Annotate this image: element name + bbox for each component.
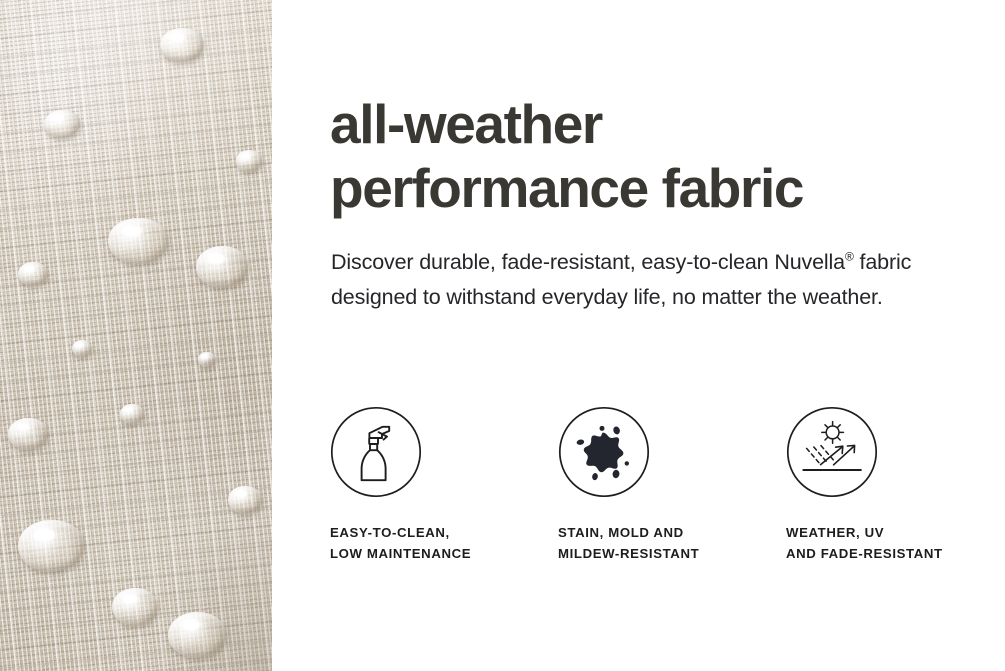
water-droplet — [196, 246, 248, 288]
sun-uv-reflect-icon — [786, 406, 878, 498]
feature-caption: EASY-TO-CLEAN, LOW MAINTENANCE — [330, 523, 558, 565]
water-droplet — [120, 404, 144, 424]
water-droplet — [160, 28, 204, 62]
content-column: all-weather performance fabric Discover … — [330, 0, 975, 671]
water-droplet — [236, 150, 262, 172]
water-droplet — [18, 520, 84, 572]
water-droplet — [108, 218, 168, 264]
subcopy-line-a: Discover durable, fade-resistant, easy-t… — [331, 250, 845, 274]
water-droplet — [168, 612, 226, 658]
spray-bottle-icon — [330, 406, 422, 498]
water-droplet — [8, 418, 48, 450]
water-droplet — [72, 340, 92, 357]
feature-item: WEATHER, UV AND FADE-RESISTANT — [786, 406, 1005, 565]
feature-list: EASY-TO-CLEAN, LOW MAINTENANCE STAIN, MO… — [330, 406, 975, 565]
feature-item: EASY-TO-CLEAN, LOW MAINTENANCE — [330, 406, 558, 565]
water-droplet — [228, 486, 262, 514]
page-headline: all-weather performance fabric — [330, 92, 803, 221]
stain-splat-icon — [558, 406, 650, 498]
registered-trademark-symbol: ® — [845, 249, 854, 263]
feature-caption: WEATHER, UV AND FADE-RESISTANT — [786, 523, 1005, 565]
feature-caption: STAIN, MOLD AND MILDEW-RESISTANT — [558, 523, 786, 565]
all-weather-fabric-banner: all-weather performance fabric Discover … — [0, 0, 1005, 671]
water-droplet — [44, 110, 80, 138]
fabric-photo-panel — [0, 0, 272, 671]
water-droplet — [198, 352, 216, 367]
page-subcopy: Discover durable, fade-resistant, easy-t… — [331, 245, 956, 315]
water-droplet — [112, 588, 158, 626]
feature-item: STAIN, MOLD AND MILDEW-RESISTANT — [558, 406, 786, 565]
water-droplet — [18, 262, 48, 286]
